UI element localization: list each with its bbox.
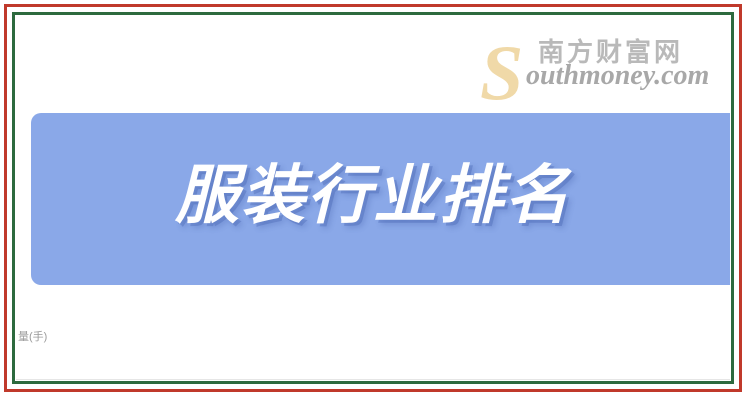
volume-pane: 量(手) — [16, 328, 730, 380]
screenshot-root: 服装行业排名 S 南方财富网 outhmoney.com 量(手) — [0, 0, 750, 400]
volume-baseline — [16, 379, 730, 380]
volume-axis-label: 量(手) — [18, 328, 47, 344]
candlestick-series-shaded — [16, 16, 730, 302]
price-pane: 服装行业排名 S 南方财富网 outhmoney.com — [16, 16, 730, 302]
stock-chart[interactable]: 服装行业排名 S 南方财富网 outhmoney.com 量(手) — [16, 16, 730, 380]
x-axis-tick-labels — [16, 292, 730, 314]
